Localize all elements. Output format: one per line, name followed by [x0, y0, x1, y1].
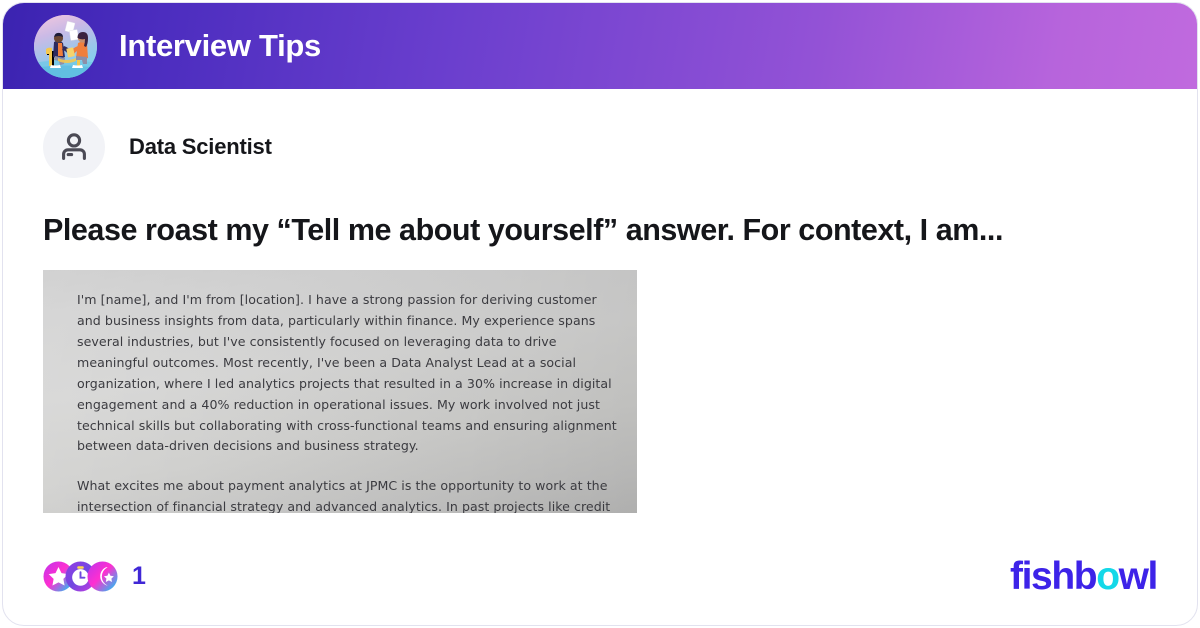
person-icon [57, 130, 91, 164]
photo-paragraph: I'm [name], and I'm from [location]. I h… [77, 290, 617, 457]
post-body: Data Scientist Please roast my “Tell me … [3, 89, 1197, 625]
reaction-count: 1 [132, 562, 146, 591]
group-header: Interview Tips [3, 3, 1197, 89]
reaction-badge-stack[interactable] [43, 561, 118, 592]
page-title: Please roast my “Tell me about yourself”… [43, 213, 1167, 248]
reactions-group[interactable]: 1 [43, 561, 146, 592]
post-card: Interview Tips Data Scientist Please roa… [2, 2, 1198, 626]
group-title: Interview Tips [119, 28, 321, 64]
brand-text-accent-o: o [1096, 557, 1118, 596]
moon-star-reaction-icon[interactable] [87, 561, 118, 592]
author-name: Data Scientist [129, 134, 272, 160]
brand-text-before: fishb [1010, 557, 1096, 596]
attached-photo[interactable]: I'm [name], and I'm from [location]. I h… [43, 270, 637, 513]
fishbowl-logo: fishbowl [1010, 557, 1157, 596]
brand-text-after: wl [1119, 557, 1157, 596]
photo-text-content: I'm [name], and I'm from [location]. I h… [43, 270, 637, 513]
interview-illustration-icon [34, 15, 97, 78]
photo-paragraph: What excites me about payment analytics … [77, 476, 617, 513]
avatar [43, 116, 105, 178]
author-row[interactable]: Data Scientist [43, 116, 1167, 178]
post-footer: 1 fishbowl [43, 554, 1157, 598]
